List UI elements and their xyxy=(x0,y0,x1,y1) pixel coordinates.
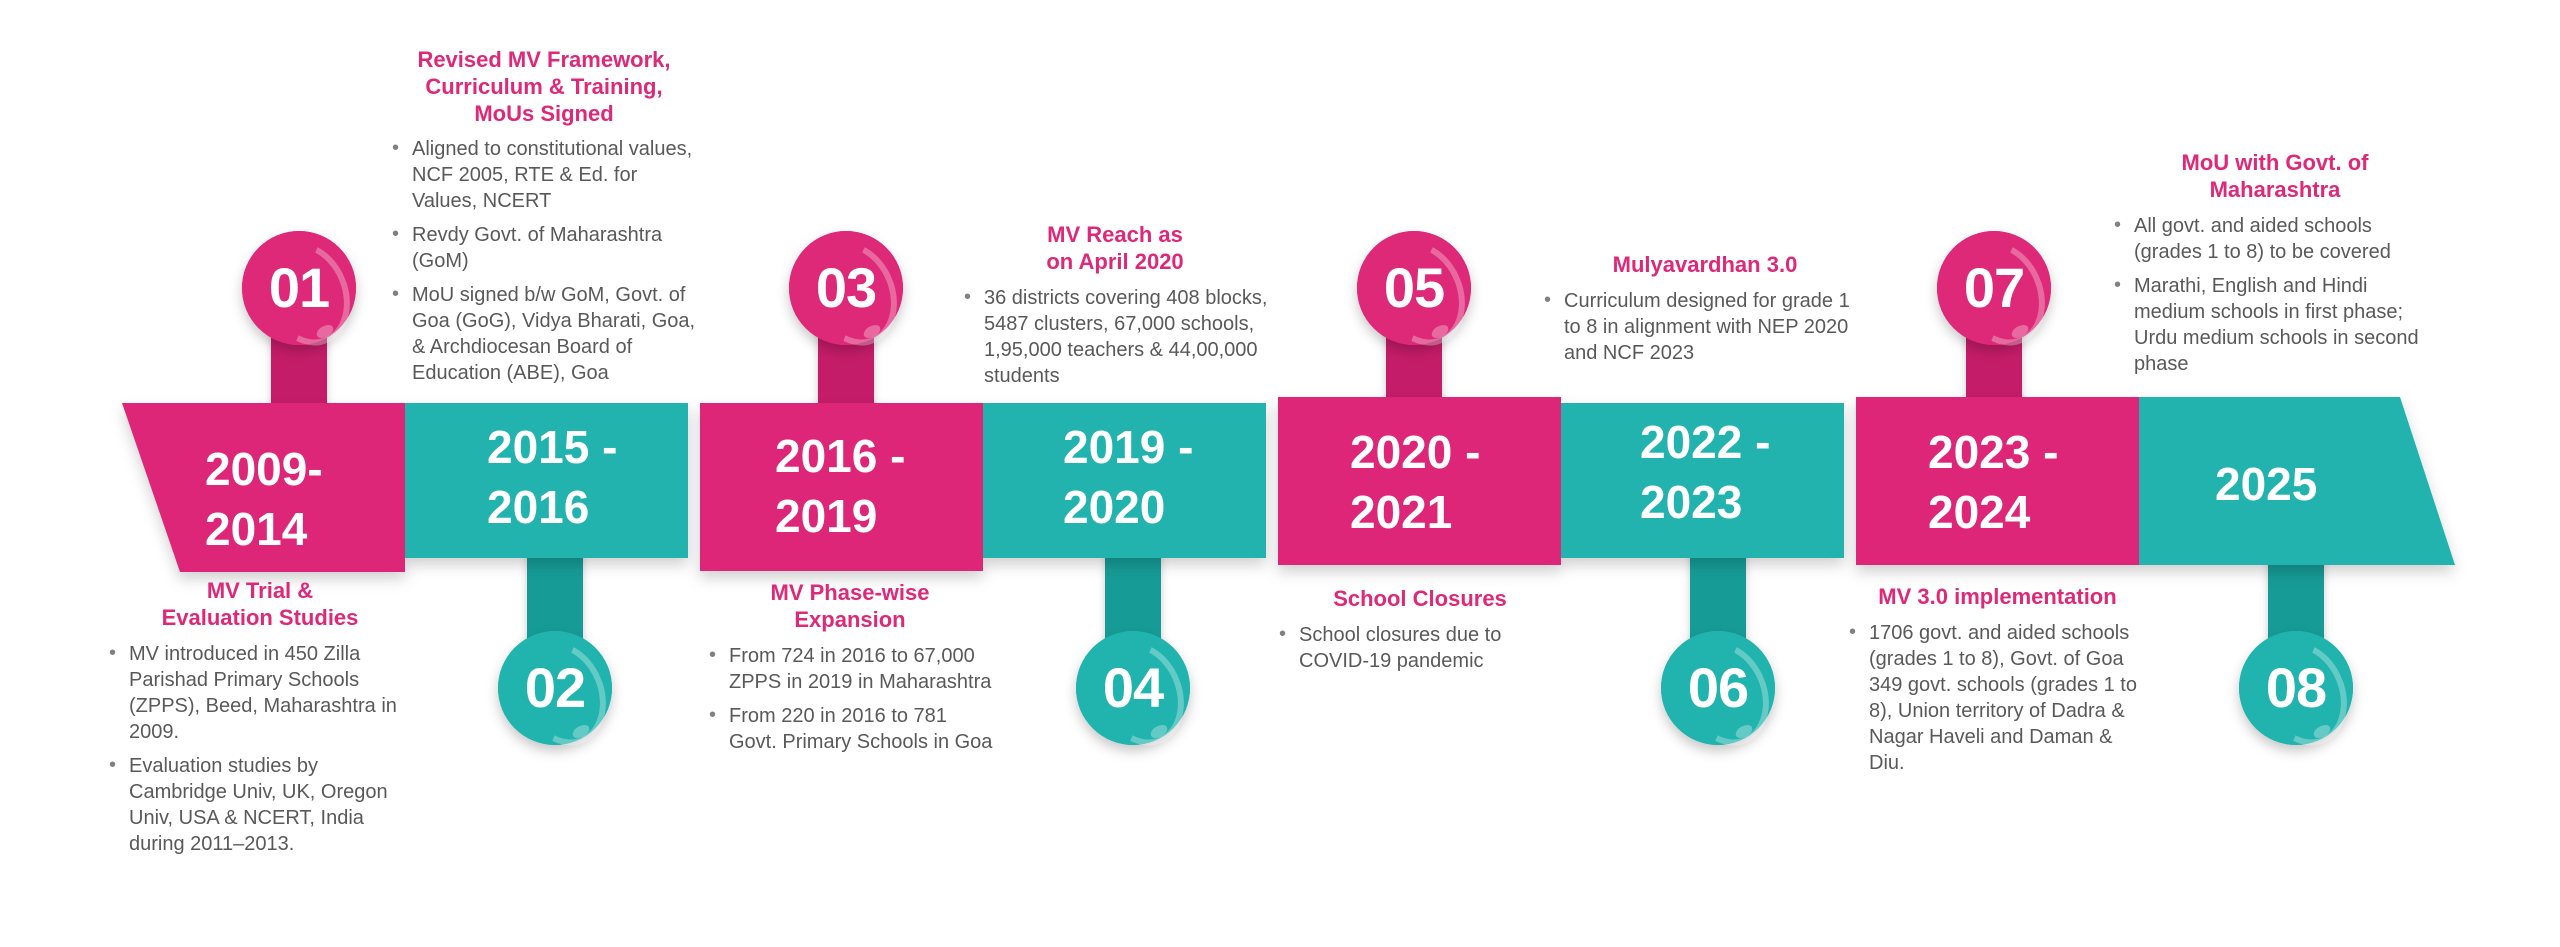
segment-5-label-line2: 2021 xyxy=(1350,486,1452,538)
gloss-dot-icon xyxy=(1148,722,1169,741)
segment-3-label-line2: 2019 xyxy=(775,490,877,542)
title-line-1: MoU with Govt. of xyxy=(2182,150,2369,175)
content-block-revised-framework-title: Revised MV Framework, Curriculum & Train… xyxy=(388,47,700,127)
title-line-2: on April 2020 xyxy=(1046,249,1183,274)
content-block-mv3-implementation-title: MV 3.0 implementation xyxy=(1845,584,2150,611)
content-block-school-closures-title: School Closures xyxy=(1275,586,1565,613)
content-block-mv-reach-title: MV Reach as on April 2020 xyxy=(960,222,1270,276)
gloss-dot-icon xyxy=(2311,722,2332,741)
segment-3-shape xyxy=(700,403,983,571)
segment-4-label-line2: 2020 xyxy=(1063,481,1165,533)
list-item: Marathi, English and Hindi medium school… xyxy=(2110,273,2440,377)
title-line-1: MV Reach as xyxy=(1047,222,1183,247)
list-item: Curriculum designed for grade 1 to 8 in … xyxy=(1540,288,1870,366)
list-item: Revdy Govt. of Maharashtra (GoM) xyxy=(388,222,700,274)
badge-04-number: 04 xyxy=(1103,660,1163,716)
title-line-1: Mulyavardhan 3.0 xyxy=(1613,252,1798,277)
badge-07[interactable]: 07 xyxy=(1937,231,2051,345)
segment-4-label-line1: 2019 - xyxy=(1063,421,1193,473)
badge-08[interactable]: 08 xyxy=(2239,631,2353,745)
badge-03-number: 03 xyxy=(816,260,876,316)
title-line-1: MV 3.0 implementation xyxy=(1878,584,2116,609)
segment-1-label-line1: 2009- xyxy=(205,443,323,495)
title-line-3: MoUs Signed xyxy=(474,101,613,126)
segment-2-shape xyxy=(405,403,688,558)
list-item: From 220 in 2016 to 781 Govt. Primary Sc… xyxy=(705,703,995,755)
ribbon-period-labels: 2009- 2014 2015 - 2016 2016 - 2019 2019 … xyxy=(205,416,2317,555)
segment-6-label-line2: 2023 xyxy=(1640,476,1742,528)
badge-07-number: 07 xyxy=(1964,260,2024,316)
segment-2-label-line2: 2016 xyxy=(487,481,589,533)
segment-1-label-line2: 2014 xyxy=(205,503,308,555)
list-item: Evaluation studies by Cambridge Univ, UK… xyxy=(105,753,415,857)
gloss-dot-icon xyxy=(570,722,591,741)
content-block-school-closures-bullets: School closures due to COVID-19 pandemic xyxy=(1275,622,1565,674)
ribbon-segments xyxy=(122,397,2455,572)
gloss-dot-icon xyxy=(1733,722,1754,741)
content-block-revised-framework-bullets: Aligned to constitutional values, NCF 20… xyxy=(388,136,700,386)
badge-02-number: 02 xyxy=(525,660,585,716)
list-item: All govt. and aided schools (grades 1 to… xyxy=(2110,213,2440,265)
list-item: MV introduced in 450 Zilla Parishad Prim… xyxy=(105,641,415,745)
badge-02[interactable]: 02 xyxy=(498,631,612,745)
content-block-mou-maharashtra-title: MoU with Govt. of Maharashtra xyxy=(2110,150,2440,204)
content-block-mou-maharashtra: MoU with Govt. of Maharashtra All govt. … xyxy=(2110,150,2440,377)
content-block-phasewise-expansion-bullets: From 724 in 2016 to 67,000 ZPPS in 2019 … xyxy=(705,643,995,755)
segment-6-label-line1: 2022 - xyxy=(1640,416,1770,468)
badge-05-number: 05 xyxy=(1384,260,1444,316)
title-line-2: Evaluation Studies xyxy=(162,605,359,630)
segment-8-shape xyxy=(2139,397,2455,565)
badge-06-number: 06 xyxy=(1688,660,1748,716)
segment-1-shape xyxy=(122,403,405,572)
title-line-2: Maharashtra xyxy=(2210,177,2341,202)
content-block-mulyavardhan-3: Mulyavardhan 3.0 Curriculum designed for… xyxy=(1540,252,1870,366)
content-block-mulyavardhan-3-title: Mulyavardhan 3.0 xyxy=(1540,252,1870,279)
segment-3-label-line1: 2016 - xyxy=(775,430,905,482)
badge-05[interactable]: 05 xyxy=(1357,231,1471,345)
badge-03[interactable]: 03 xyxy=(789,231,903,345)
content-block-mv-reach: MV Reach as on April 2020 36 districts c… xyxy=(960,222,1270,389)
content-block-mou-maharashtra-bullets: All govt. and aided schools (grades 1 to… xyxy=(2110,213,2440,377)
segment-7-shape xyxy=(1856,397,2139,565)
content-block-mv3-implementation-bullets: 1706 govt. and aided schools (grades 1 t… xyxy=(1845,620,2150,776)
content-block-mv-trial-bullets: MV introduced in 450 Zilla Parishad Prim… xyxy=(105,641,415,857)
content-block-mv-trial-title: MV Trial & Evaluation Studies xyxy=(105,578,415,632)
badge-06[interactable]: 06 xyxy=(1661,631,1775,745)
title-line-1: MV Phase-wise xyxy=(771,580,930,605)
title-line-1: MV Trial & xyxy=(207,578,313,603)
title-line-2: Curriculum & Training, xyxy=(425,74,662,99)
title-line-1: Revised MV Framework, xyxy=(417,47,670,72)
list-item: Aligned to constitutional values, NCF 20… xyxy=(388,136,700,214)
segment-7-label-line2: 2024 xyxy=(1928,486,2031,538)
gloss-dot-icon xyxy=(2009,322,2030,341)
segment-5-label-line1: 2020 - xyxy=(1350,426,1480,478)
badge-04[interactable]: 04 xyxy=(1076,631,1190,745)
gloss-dot-icon xyxy=(861,322,882,341)
badge-01[interactable]: 01 xyxy=(242,231,356,345)
segment-7-label-line1: 2023 - xyxy=(1928,426,2058,478)
gloss-dot-icon xyxy=(1429,322,1450,341)
content-block-school-closures: School Closures School closures due to C… xyxy=(1275,586,1565,674)
content-block-revised-framework: Revised MV Framework, Curriculum & Train… xyxy=(388,47,700,386)
list-item: 36 districts covering 408 blocks, 5487 c… xyxy=(960,285,1270,389)
content-block-phasewise-expansion: MV Phase-wise Expansion From 724 in 2016… xyxy=(705,580,995,755)
badge-01-number: 01 xyxy=(269,260,329,316)
list-item: School closures due to COVID-19 pandemic xyxy=(1275,622,1565,674)
content-block-mv3-implementation: MV 3.0 implementation 1706 govt. and aid… xyxy=(1845,584,2150,776)
content-block-mv-reach-bullets: 36 districts covering 408 blocks, 5487 c… xyxy=(960,285,1270,389)
list-item: From 724 in 2016 to 67,000 ZPPS in 2019 … xyxy=(705,643,995,695)
list-item: MoU signed b/w GoM, Govt. of Goa (GoG), … xyxy=(388,282,700,386)
list-item: 1706 govt. and aided schools (grades 1 t… xyxy=(1845,620,2150,776)
segment-2-label-line1: 2015 - xyxy=(487,421,617,473)
timeline-infographic: 2009- 2014 2015 - 2016 2016 - 2019 2019 … xyxy=(0,0,2560,947)
segment-4-shape xyxy=(983,403,1266,558)
title-line-2: Expansion xyxy=(794,607,905,632)
gloss-dot-icon xyxy=(314,322,335,341)
segment-8-label-line1: 2025 xyxy=(2215,458,2317,510)
content-block-phasewise-expansion-title: MV Phase-wise Expansion xyxy=(705,580,995,634)
content-block-mulyavardhan-3-bullets: Curriculum designed for grade 1 to 8 in … xyxy=(1540,288,1870,366)
content-block-mv-trial: MV Trial & Evaluation Studies MV introdu… xyxy=(105,578,415,857)
segment-6-shape xyxy=(1561,403,1844,558)
badge-08-number: 08 xyxy=(2266,660,2326,716)
segment-5-shape xyxy=(1278,397,1561,565)
title-line-1: School Closures xyxy=(1333,586,1507,611)
